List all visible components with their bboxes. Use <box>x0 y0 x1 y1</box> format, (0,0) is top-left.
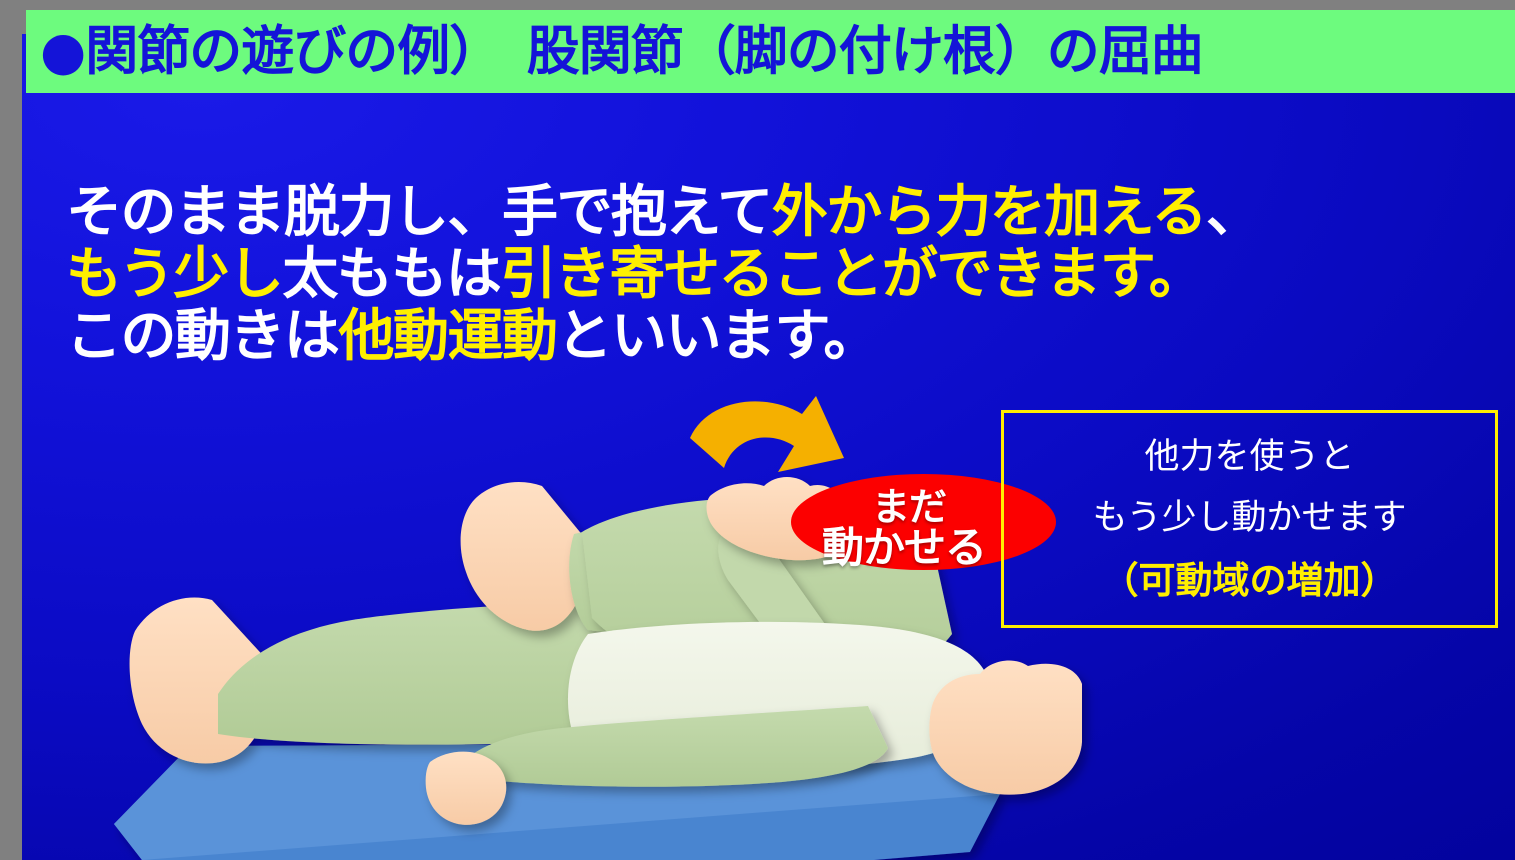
page-title: ●関節の遊びの例） 股関節（脚の付け根）の屈曲 <box>40 25 1203 78</box>
body-copy: そのまま脱力し、手で抱えて外から力を加える、 もう少し太ももは引き寄せることがで… <box>66 182 1261 368</box>
info-box-line-3: （可動域の増加） <box>1102 562 1398 599</box>
plain-text: この動きは <box>66 304 339 369</box>
callout-line-2: 動かせる <box>822 514 986 575</box>
body-line-2: もう少し太ももは引き寄せることができます。 <box>66 244 1261 306</box>
info-box-line-2: もう少し動かせます <box>1093 501 1407 536</box>
highlighted-text: 引き寄せることができます。 <box>500 242 1203 307</box>
body-line-1: そのまま脱力し、手で抱えて外から力を加える、 <box>66 182 1261 244</box>
plain-text: 太ももは <box>282 242 500 307</box>
info-box-line-1: 他力を使うと <box>1144 440 1354 475</box>
plain-text: といいます。 <box>557 304 878 369</box>
slide-body: まだ 動かせる 他力を使うと もう少し動かせます （可動域の増加） そのまま脱力… <box>22 34 1515 860</box>
slide-root: まだ 動かせる 他力を使うと もう少し動かせます （可動域の増加） そのまま脱力… <box>0 0 1515 860</box>
body-line-3: この動きは他動運動といいます。 <box>66 306 1261 368</box>
plain-text: 、 <box>1206 180 1261 245</box>
highlighted-text: 外から力を加える <box>772 180 1206 245</box>
plain-text: そのまま脱力し、手で抱えて <box>66 180 772 245</box>
highlighted-text: 他動運動 <box>339 304 557 369</box>
info-box: 他力を使うと もう少し動かせます （可動域の増加） <box>1001 410 1498 628</box>
title-band: ●関節の遊びの例） 股関節（脚の付け根）の屈曲 <box>26 10 1515 93</box>
highlighted-text: もう少し <box>66 242 282 307</box>
